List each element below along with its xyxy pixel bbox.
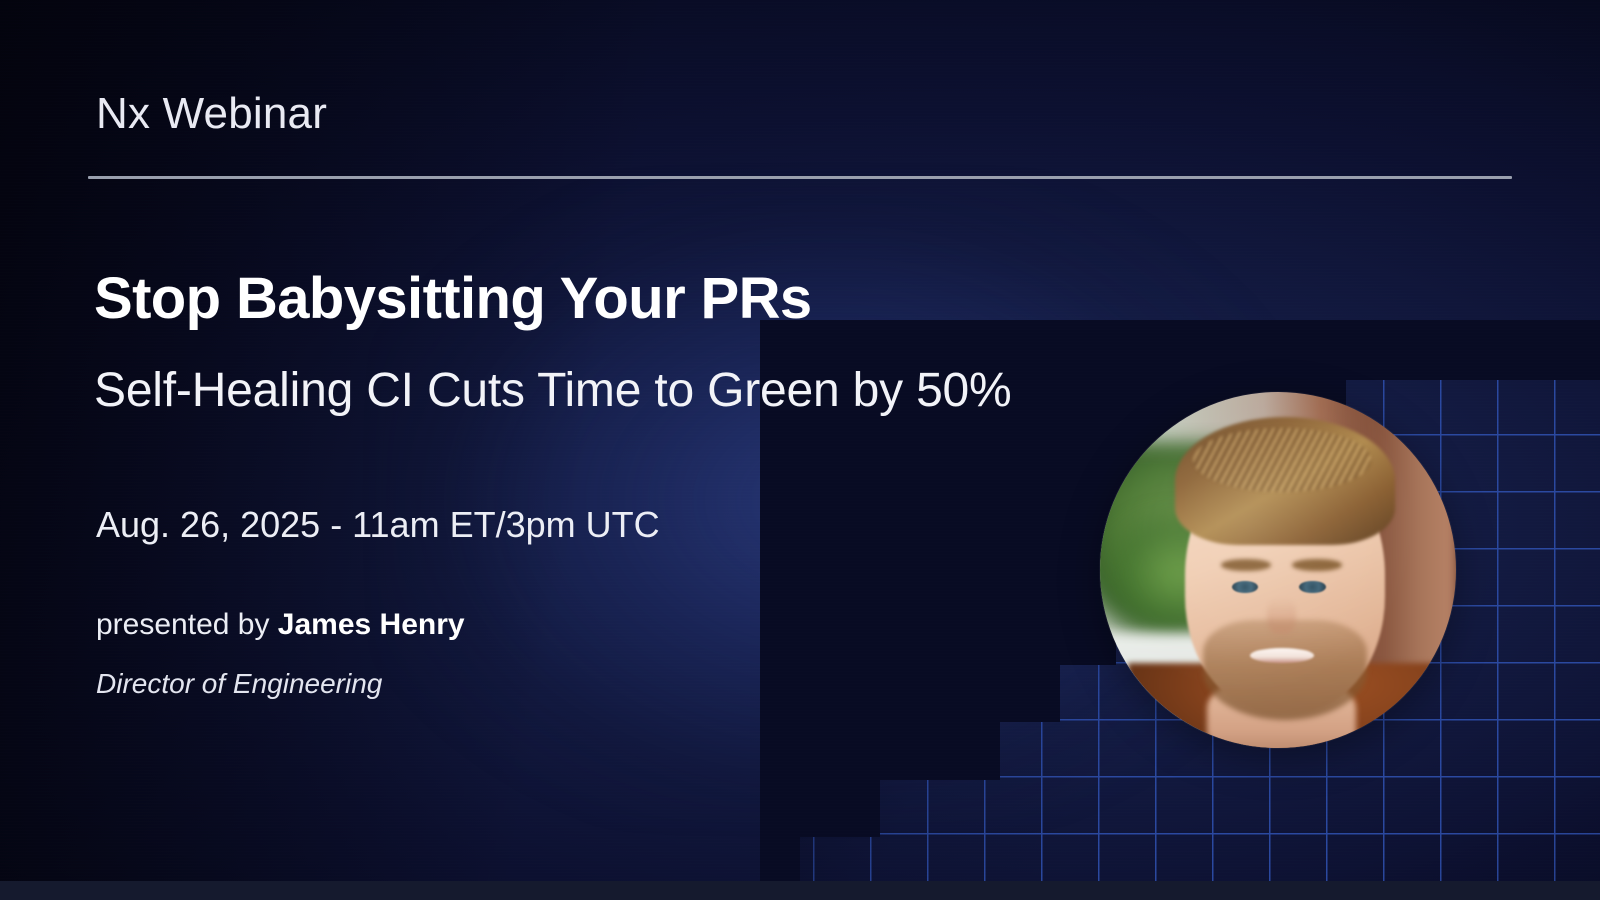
avatar-shading — [1100, 392, 1456, 748]
subtitle: Self-Healing CI Cuts Time to Green by 50… — [94, 355, 1104, 428]
eyebrow-label: Nx Webinar — [96, 90, 327, 138]
webinar-promo-card: Nx Webinar Stop Babysitting Your PRs Sel… — [0, 0, 1600, 900]
presenter-name: James Henry — [278, 608, 465, 641]
page-title: Stop Babysitting Your PRs — [94, 269, 1144, 330]
avatar — [1100, 392, 1456, 748]
bottom-bar — [0, 881, 1600, 900]
header-divider — [88, 176, 1512, 179]
presented-by-label: presented by — [96, 608, 278, 641]
presenter-role: Director of Engineering — [96, 668, 382, 700]
presenter-line: presented by James Henry — [96, 608, 465, 642]
card-content: Nx Webinar Stop Babysitting Your PRs Sel… — [0, 0, 1600, 900]
event-datetime: Aug. 26, 2025 - 11am ET/3pm UTC — [96, 504, 660, 546]
